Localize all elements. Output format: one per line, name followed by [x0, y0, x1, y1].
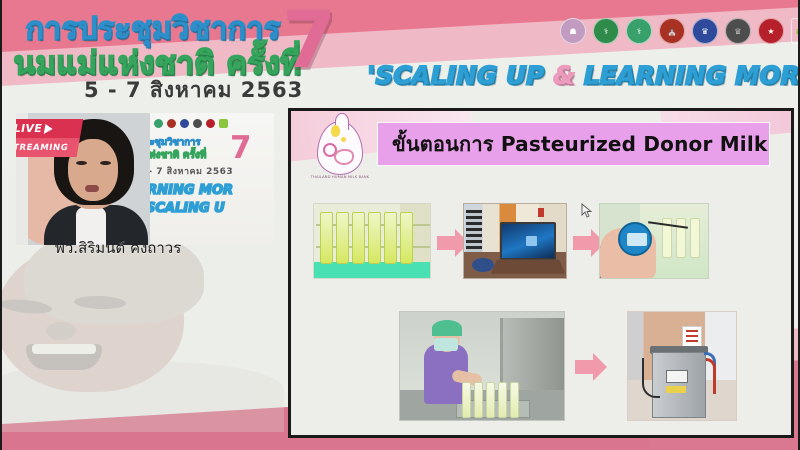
logo-item: ⚕ [626, 18, 652, 52]
poster-logo-5 [180, 119, 189, 128]
conference-tagline: 'SCALING UP & LEARNING MORE' [368, 62, 800, 90]
logo-item: ♕ [725, 18, 751, 52]
milk-bank-logo-caption: THAILAND HUMAN MILK BANK [309, 175, 371, 179]
conference-header: การประชุมวิชาการ นมแม่แห่งชาติ ครั้งที่ … [0, 0, 800, 105]
tagline-part2: LEARNING MORE' [575, 62, 800, 90]
nurse-loading-bottles-photo [399, 311, 565, 421]
organizer-logo-strip: ☗ ⚕ ⚕ ⛪ ♛ ♕ ★ สสส [560, 18, 800, 52]
screen-border-left [0, 0, 2, 450]
thai-pediatric-society-logo: ⛪ [659, 18, 685, 44]
speaker-video-panel[interactable]: การประชุมวิชาการ นมแม่แห่งชาติ ครั้งที่ … [16, 113, 274, 245]
health-department-logo: ⚕ [626, 18, 652, 44]
temperature-probe-photo [599, 203, 709, 279]
slide-panel: THAILAND HUMAN MILK BANK ขั้นตอนการ Past… [288, 108, 794, 438]
mouse-pointer [581, 203, 593, 219]
garuda-seal-logo: ♕ [725, 18, 751, 44]
live-streaming-badge: LIVE STREAMING [16, 119, 83, 157]
milk-bottles-rack-photo [313, 203, 431, 279]
logo-item: ⛪ [659, 18, 685, 52]
streaming-label: STREAMING [16, 143, 69, 153]
speaker-name-label: พว.สิริมนต์ คงถาวร [55, 236, 181, 260]
conference-date: 5 - 7 สิงหาคม 2563 [84, 74, 303, 107]
presentation-screen: การประชุมวิชาการ นมแม่แห่งชาติ ครั้งที่ … [0, 0, 800, 450]
logo-item: ★ [758, 18, 784, 52]
poster-tagline-line2: SCALING U [146, 201, 225, 216]
logo-item: ♛ [692, 18, 718, 52]
poster-logo-6 [193, 119, 202, 128]
live-label: LIVE [16, 122, 43, 135]
slide-title-bar: ขั้นตอนการ Pasteurized Donor Milk [377, 122, 770, 166]
poster-date: 5 - 7 สิงหาคม 2563 [138, 164, 233, 178]
logo-item: ⚕ [593, 18, 619, 52]
royal-emblem-logo: ♛ [692, 18, 718, 44]
royal-patronage-logo: ☗ [560, 18, 586, 44]
play-triangle-icon [44, 124, 54, 134]
poster-logo-3 [154, 119, 163, 128]
ministry-public-health-logo: ⚕ [593, 18, 619, 44]
red-circle-seal-logo: ★ [758, 18, 784, 44]
conference-edition-number: 7 [282, 2, 336, 80]
tagline-ampersand: & [554, 62, 576, 90]
poster-edition-number: 7 [230, 133, 252, 164]
poster-logo-8 [219, 119, 228, 128]
slide-title: ขั้นตอนการ Pasteurized Donor Milk [392, 128, 767, 160]
human-milk-bank-drop-logo: THAILAND HUMAN MILK BANK [309, 119, 371, 185]
laptop-workstation-photo [463, 203, 567, 279]
poster-logo-4 [167, 119, 176, 128]
pasteurizer-machine-photo [627, 311, 737, 421]
tagline-part1: 'SCALING UP [368, 62, 554, 90]
logo-item: ☗ [560, 18, 586, 52]
poster-logo-7 [206, 119, 215, 128]
